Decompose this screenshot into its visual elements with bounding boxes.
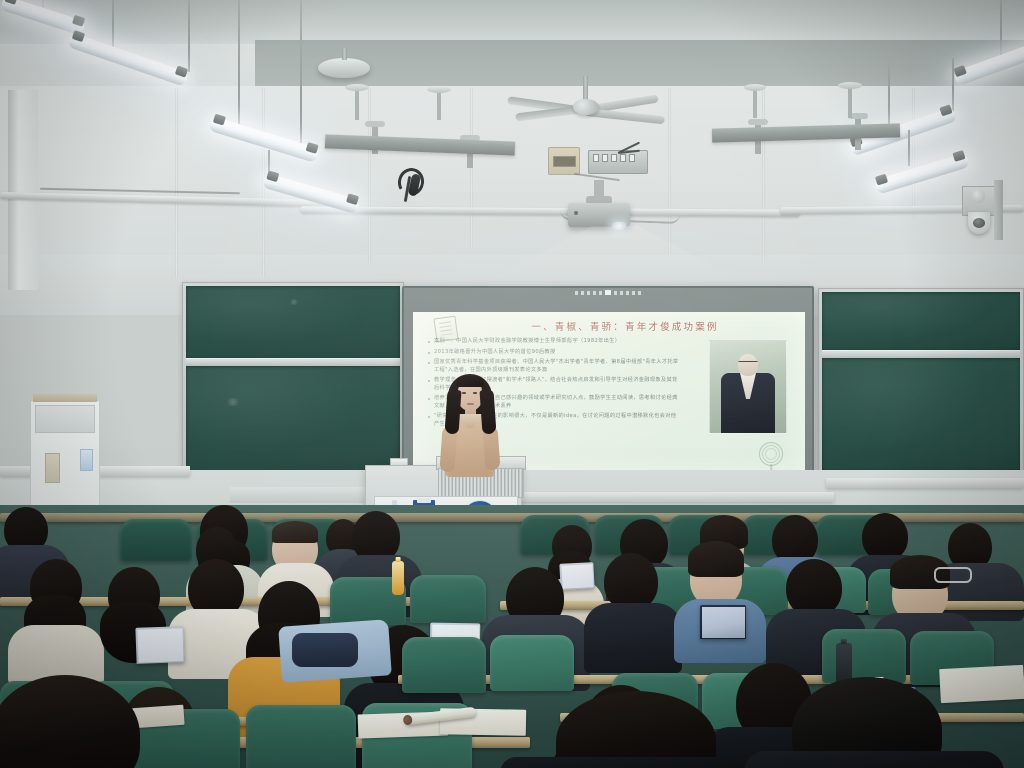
tube-cap-icon [953, 65, 966, 77]
blackboard-right [818, 288, 1024, 476]
receiver-buttons[interactable] [593, 154, 635, 162]
slide-seal-decoration [759, 442, 783, 466]
laptop[interactable] [135, 626, 184, 664]
slide-portrait-photo [709, 340, 787, 434]
blackboard-left-panel-bottom [186, 366, 400, 471]
presenter-hair-right [479, 390, 496, 435]
chalk-smudge [225, 398, 241, 406]
tube-cap-icon [72, 15, 85, 27]
cone-hanger-rod-3 [753, 88, 757, 118]
seat[interactable] [410, 575, 486, 623]
control-box-display [553, 156, 576, 167]
seat[interactable] [246, 705, 356, 768]
upper-wall [0, 86, 1024, 276]
notebook [939, 665, 1024, 703]
tube-cap-icon [875, 174, 888, 186]
cone-hanger-rod-2 [437, 90, 441, 120]
light-rod-2b [188, 0, 190, 72]
light-rod-2 [112, 0, 114, 52]
tube-cap-icon [346, 193, 359, 205]
seat[interactable] [402, 637, 486, 693]
ceiling-slab-front [0, 0, 1024, 44]
cylinder-light-stem [342, 48, 347, 60]
blackboard-right-divider [822, 350, 1020, 358]
wall-pilaster-1 [175, 88, 178, 278]
tube-cap-icon [952, 150, 965, 162]
wall-pilaster-7 [912, 88, 915, 218]
presenter-eye [462, 392, 466, 394]
presenter-fringe [456, 376, 484, 387]
tube-cap-icon [266, 170, 279, 182]
wall-control-box[interactable] [548, 147, 580, 175]
slide-title: 一、青椒、青骄：青年才俊成功案例 [475, 319, 775, 333]
presenter-eye [473, 392, 477, 394]
backpack-strap [292, 633, 358, 667]
blackboard-left [182, 282, 404, 474]
student-head [862, 513, 908, 561]
light-rod-6b [888, 62, 890, 130]
slide-bullet: 2013年破格晋升为中国人民大学的首位90后教授 [427, 349, 679, 356]
camera-wall-post [994, 180, 1003, 240]
wall-pilaster-3 [368, 88, 371, 263]
tube-cap-icon [939, 104, 952, 116]
projector-lens-icon [612, 222, 626, 230]
laptop[interactable] [700, 605, 746, 639]
cone-hanger-rod-1 [355, 88, 359, 120]
wall-pilaster-5 [668, 88, 671, 253]
presenter [440, 370, 500, 490]
student-torso [584, 603, 682, 673]
student-torso [500, 757, 778, 768]
light-rod-3 [238, 0, 240, 132]
glasses-icon [934, 567, 972, 583]
tube-cap-icon [306, 142, 319, 154]
ac-top-cap [33, 394, 97, 402]
cylinder-ceiling-light [318, 58, 370, 78]
audience-seating-area [0, 505, 1024, 768]
projector-status-led [574, 211, 578, 215]
cone-hanger-plate-1 [345, 84, 369, 91]
laptop[interactable] [559, 562, 594, 590]
wall-ledge-right [826, 478, 1024, 488]
glasses-icon [739, 361, 758, 366]
chalk-smudge [289, 299, 299, 305]
tube-cap-icon [213, 114, 226, 126]
ac-brand-label [80, 449, 93, 471]
cone-hanger-plate-4 [838, 82, 862, 89]
ac-air-vent [35, 405, 95, 433]
wall-pilaster-6 [762, 88, 765, 263]
ceiling-fan-hub [573, 99, 599, 115]
blackboard-left-panel-top [186, 286, 400, 358]
light-rod-5 [1000, 0, 1002, 58]
blackboard-right-panel-top [822, 292, 1020, 350]
student-torso [744, 751, 1004, 768]
water-bottle [392, 561, 404, 595]
floor-standing-air-conditioner [30, 400, 100, 507]
ceiling-projector[interactable] [568, 203, 630, 227]
cone-hanger-plate-3 [744, 84, 766, 91]
tube-cap-icon [4, 0, 17, 5]
camera-lens-icon [973, 218, 985, 228]
wall-column-left [8, 90, 38, 290]
ceiling-slab-rear [255, 40, 1024, 86]
student-hair [688, 541, 744, 577]
wall-pilaster-4 [470, 88, 473, 248]
blackboard-left-divider [186, 358, 400, 366]
cone-hanger-plate-2 [427, 86, 451, 93]
seat[interactable] [120, 519, 192, 561]
seat[interactable] [822, 629, 906, 683]
screen-status-dots [575, 290, 641, 295]
light-rod-7 [908, 130, 910, 166]
light-rod-3b [300, 0, 302, 148]
ac-control-panel[interactable] [45, 453, 60, 483]
front-side-table [230, 487, 380, 503]
seat[interactable] [490, 635, 574, 691]
student-hair [272, 521, 318, 543]
slide-bullet: 案例一：中国人民大学财政金融学院教授博士生导师郭彪宇（1982年出生） [427, 338, 679, 345]
camera-bracket-knob [972, 190, 985, 203]
blackboard-right-panel-bottom [822, 358, 1020, 470]
cone-hanger-rod-4 [848, 86, 852, 118]
lecture-hall-photo: 一、青椒、青骄：青年才俊成功案例 案例一：中国人民大学财政金融学院教授博士生导师… [0, 0, 1024, 768]
